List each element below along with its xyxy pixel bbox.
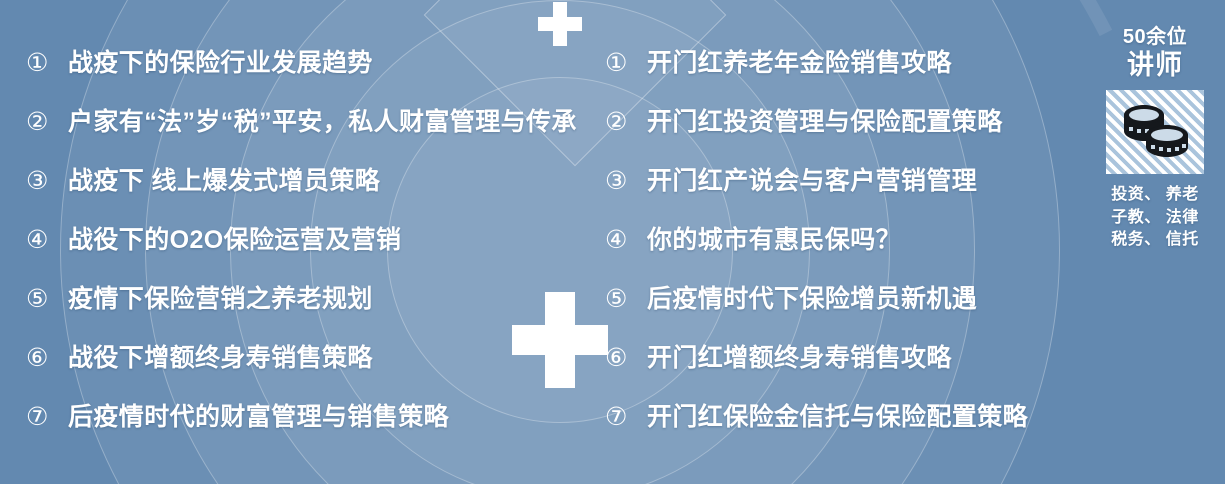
list-item-label: 开门红增额终身寿销售攻略 bbox=[647, 346, 952, 371]
instructor-count-label: 50余位 bbox=[1090, 26, 1220, 49]
list-item-label: 战役下增额终身寿销售策略 bbox=[68, 346, 373, 371]
list-item-number: ① bbox=[605, 50, 647, 75]
list-item-number: ⑥ bbox=[26, 345, 68, 370]
list-item[interactable]: ⑤ 疫情下保险营销之养老规划 bbox=[26, 286, 606, 345]
list-item-label: 开门红保险金信托与保险配置策略 bbox=[647, 405, 1028, 430]
list-item-label: 疫情下保险营销之养老规划 bbox=[68, 287, 373, 312]
topic-tag-line-2: 子教、 法律 bbox=[1090, 207, 1220, 230]
list-item-number: ③ bbox=[26, 168, 68, 193]
topic-tag-line-1: 投资、 养老 bbox=[1090, 184, 1220, 207]
coins-glyph bbox=[1118, 101, 1192, 163]
slide-canvas: ① 战疫下的保险行业发展趋势 ② 户家有“法”岁“税”平安，私人财富管理与传承 … bbox=[0, 0, 1225, 484]
list-item-label: 战疫下的保险行业发展趋势 bbox=[68, 51, 373, 76]
list-item-label: 开门红投资管理与保险配置策略 bbox=[647, 110, 1003, 135]
list-item-number: ⑦ bbox=[605, 404, 647, 429]
stacked-coins-icon bbox=[1106, 90, 1204, 174]
list-item[interactable]: ⑥ 开门红增额终身寿销售攻略 bbox=[605, 345, 1075, 404]
list-item[interactable]: ⑥ 战役下增额终身寿销售策略 bbox=[26, 345, 606, 404]
list-item[interactable]: ① 战疫下的保险行业发展趋势 bbox=[26, 50, 606, 109]
list-item-label: 战疫下 线上爆发式增员策略 bbox=[68, 169, 380, 194]
list-item-number: ⑦ bbox=[26, 404, 68, 429]
list-item-label: 后疫情时代下保险增员新机遇 bbox=[647, 287, 977, 312]
course-list-right: ① 开门红养老年金险销售攻略 ② 开门红投资管理与保险配置策略 ③ 开门红产说会… bbox=[605, 50, 1075, 463]
list-item[interactable]: ④ 你的城市有惠民保吗？ bbox=[605, 227, 1075, 286]
list-item-number: ③ bbox=[605, 168, 647, 193]
list-item-label: 后疫情时代的财富管理与销售策略 bbox=[68, 405, 449, 430]
list-item-label: 你的城市有惠民保吗？ bbox=[647, 228, 901, 253]
list-item-label: 户家有“法”岁“税”平安，私人财富管理与传承 bbox=[68, 110, 577, 135]
list-item-label: 开门红养老年金险销售攻略 bbox=[647, 51, 952, 76]
list-item[interactable]: ⑦ 后疫情时代的财富管理与销售策略 bbox=[26, 404, 606, 463]
topic-tag-line-3: 税务、 信托 bbox=[1090, 229, 1220, 252]
course-list-left: ① 战疫下的保险行业发展趋势 ② 户家有“法”岁“税”平安，私人财富管理与传承 … bbox=[26, 50, 606, 463]
list-item-number: ① bbox=[26, 50, 68, 75]
list-item-number: ⑥ bbox=[605, 345, 647, 370]
list-item[interactable]: ④ 战役下的O2O保险运营及营销 bbox=[26, 227, 606, 286]
list-item[interactable]: ③ 开门红产说会与客户营销管理 bbox=[605, 168, 1075, 227]
instructor-topic-tags: 投资、 养老 子教、 法律 税务、 信托 bbox=[1090, 184, 1220, 252]
instructor-panel: 50余位 讲师 bbox=[1090, 26, 1220, 252]
plus-bar-vertical bbox=[553, 2, 567, 46]
list-item[interactable]: ② 开门红投资管理与保险配置策略 bbox=[605, 109, 1075, 168]
list-item[interactable]: ③ 战疫下 线上爆发式增员策略 bbox=[26, 168, 606, 227]
list-item-number: ⑤ bbox=[605, 286, 647, 311]
list-item[interactable]: ① 开门红养老年金险销售攻略 bbox=[605, 50, 1075, 109]
list-item-label: 战役下的O2O保险运营及营销 bbox=[68, 228, 401, 253]
list-item[interactable]: ⑦ 开门红保险金信托与保险配置策略 bbox=[605, 404, 1075, 463]
instructor-title-label: 讲师 bbox=[1090, 50, 1220, 81]
list-item-number: ④ bbox=[605, 227, 647, 252]
list-item[interactable]: ② 户家有“法”岁“税”平安，私人财富管理与传承 bbox=[26, 109, 606, 168]
list-item-number: ② bbox=[605, 109, 647, 134]
plus-icon-small bbox=[538, 2, 582, 46]
list-item-number: ② bbox=[26, 109, 68, 134]
list-item-number: ⑤ bbox=[26, 286, 68, 311]
list-item-label: 开门红产说会与客户营销管理 bbox=[647, 169, 977, 194]
list-item-number: ④ bbox=[26, 227, 68, 252]
list-item[interactable]: ⑤ 后疫情时代下保险增员新机遇 bbox=[605, 286, 1075, 345]
